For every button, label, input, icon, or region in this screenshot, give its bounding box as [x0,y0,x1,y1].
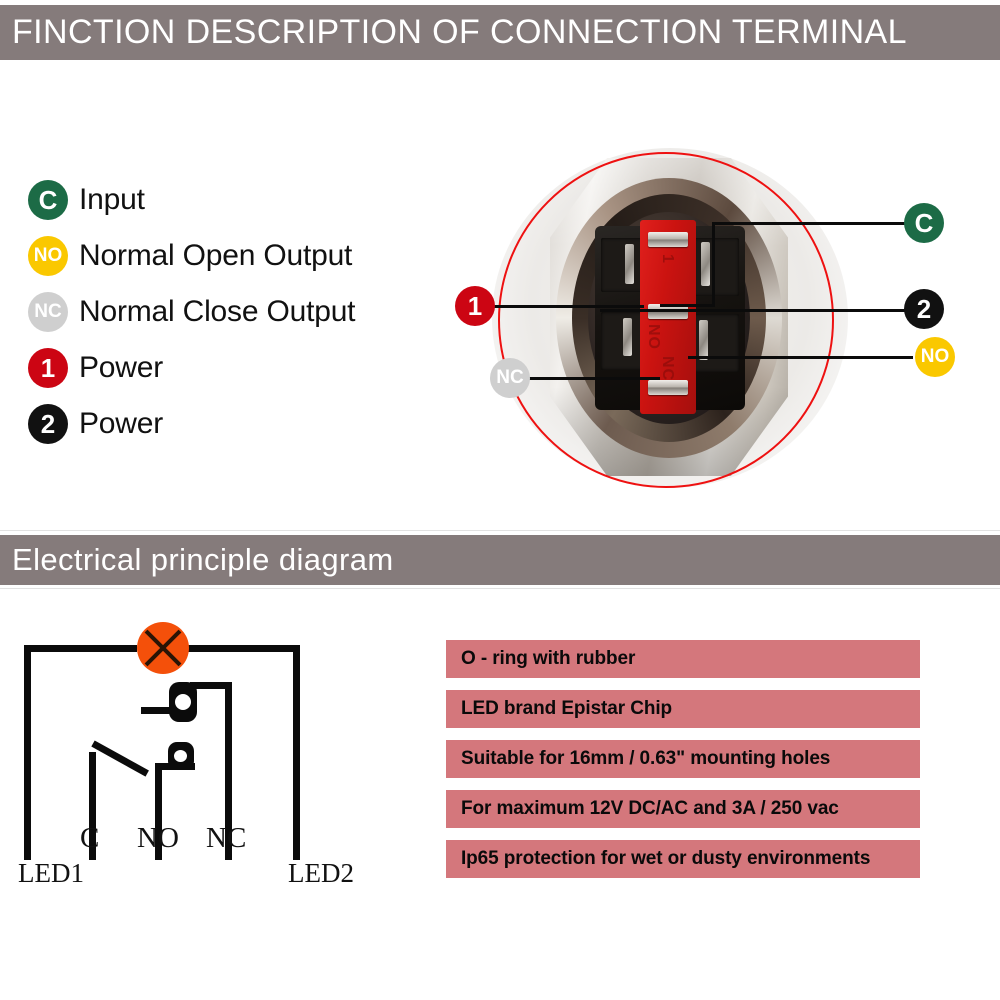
legend-label-1: Power [79,351,163,385]
feature-text: LED brand Epistar Chip [446,698,672,720]
divider-below-header2 [0,588,1000,589]
schematic-wire-c-blade [91,740,149,776]
callout-line-1 [494,305,644,308]
legend-label-nc: Normal Close Output [79,295,355,329]
legend-item-no: NO Normal Open Output [28,228,448,284]
legend-label-2: Power [79,407,163,441]
schematic-contact-no-notch [174,750,187,762]
schematic-label-nc: NC [206,822,246,855]
legend-list: C Input NO Normal Open Output NC Normal … [28,172,448,452]
legend-item-nc: NC Normal Close Output [28,284,448,340]
badge-c-icon: C [28,180,68,220]
callout-line-2 [600,309,910,312]
feature-item-mounting-hole: Suitable for 16mm / 0.63" mounting holes [446,740,920,778]
highlight-circle [498,152,834,488]
schematic-contact-nc-notch [175,694,191,710]
feature-item-oring: O - ring with rubber [446,640,920,678]
section-header2-title: Electrical principle diagram [0,542,394,578]
callout-line-c-horizontal-top [712,222,910,225]
section-header-title: FINCTION DESCRIPTION OF CONNECTION TERMI… [0,13,907,52]
product-photo-switch-terminal: 1 NO NC [492,148,848,488]
schematic-wire-top-left [24,645,137,652]
feature-list: O - ring with rubber LED brand Epistar C… [446,640,920,890]
feature-item-voltage-rating: For maximum 12V DC/AC and 3A / 250 vac [446,790,920,828]
callout-badge-2: 2 [904,289,944,329]
callout-line-no [688,356,913,359]
legend-item-1: 1 Power [28,340,448,396]
schematic-label-no: NO [137,822,179,855]
callout-line-c-horizontal-bottom [660,304,715,307]
callout-line-nc [528,377,660,380]
callout-line-c-vertical [712,222,715,307]
lamp-icon [137,622,189,674]
electrical-schematic: C NO NC LED1 LED2 [0,600,360,900]
schematic-wire-top-right [188,645,300,652]
legend-label-c: Input [79,183,145,217]
section-header-connection-terminal: FINCTION DESCRIPTION OF CONNECTION TERMI… [0,5,1000,60]
section-header-electrical-diagram: Electrical principle diagram [0,535,1000,585]
divider-above-header2 [0,530,1000,531]
badge-nc-icon: NC [28,292,68,332]
schematic-wire-right-rail [293,645,300,860]
callout-badge-no: NO [915,337,955,377]
badge-no-icon: NO [28,236,68,276]
legend-item-c: C Input [28,172,448,228]
feature-item-ip-rating: Ip65 protection for wet or dusty environ… [446,840,920,878]
feature-text: O - ring with rubber [446,648,635,670]
legend-label-no: Normal Open Output [79,239,352,273]
schematic-label-led1: LED1 [18,858,84,889]
feature-item-led-chip: LED brand Epistar Chip [446,690,920,728]
feature-text: For maximum 12V DC/AC and 3A / 250 vac [446,798,839,820]
legend-item-2: 2 Power [28,396,448,452]
schematic-label-c: C [80,822,99,855]
callout-badge-1: 1 [455,286,495,326]
badge-1-icon: 1 [28,348,68,388]
page-root: FINCTION DESCRIPTION OF CONNECTION TERMI… [0,0,1000,1000]
feature-text: Suitable for 16mm / 0.63" mounting holes [446,748,830,770]
feature-text: Ip65 protection for wet or dusty environ… [446,848,870,870]
callout-badge-nc: NC [490,358,530,398]
schematic-wire-left-rail [24,645,31,860]
callout-badge-c: C [904,203,944,243]
schematic-label-led2: LED2 [288,858,354,889]
badge-2-icon: 2 [28,404,68,444]
